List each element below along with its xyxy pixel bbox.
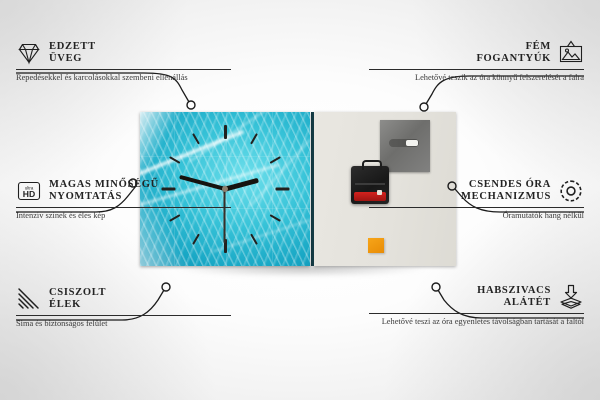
infographic-canvas: EDZETTÜVEG Repedésekkel és karcolásokkal… (0, 0, 600, 400)
metal-hanger-plate (380, 120, 430, 172)
feature-title: MAGAS MINŐSÉGŰNYOMTATÁS (49, 179, 159, 204)
foam-pad (368, 238, 384, 253)
feature-description: Óramutatók hang nélkül (369, 211, 584, 222)
feature-header: FÉMFOGANTYÚK (369, 40, 584, 66)
diamond-icon (16, 40, 42, 66)
feature-description: Intenzív színek és éles kép (16, 211, 231, 222)
divider (369, 69, 584, 70)
divider (16, 315, 231, 316)
feature-header: EDZETTÜVEG (16, 40, 231, 66)
feature-metal-handles[interactable]: FÉMFOGANTYÚK Lehetővé teszik az óra könn… (369, 40, 584, 84)
feature-silent-mechanism[interactable]: CSENDES ÓRAMECHANIZMUS Óramutatók hang n… (369, 178, 584, 222)
feature-description: Lehetővé teszi az óra egyenletes távolsá… (369, 317, 584, 328)
feature-polished-edges[interactable]: CSISZOLTÉLEK Sima és biztonságos felület (16, 286, 231, 330)
ultra-hd-icon: ultra HD (16, 178, 42, 204)
divider (16, 207, 231, 208)
feature-header: ultra HD MAGAS MINŐSÉGŰNYOMTATÁS (16, 178, 231, 204)
feature-description: Sima és biztonságos felület (16, 319, 231, 330)
feature-foam-pad[interactable]: HABSZIVACSALÁTÉT Lehetővé teszi az óra e… (369, 284, 584, 328)
feature-description: Lehetővé teszik az óra könnyű felszerelé… (369, 73, 584, 84)
feature-high-quality-print[interactable]: ultra HD MAGAS MINŐSÉGŰNYOMTATÁS Intenzí… (16, 178, 231, 222)
svg-text:HD: HD (23, 189, 35, 199)
bevel-edge-icon (16, 286, 42, 312)
feature-tempered-glass[interactable]: EDZETTÜVEG Repedésekkel és karcolásokkal… (16, 40, 231, 84)
feature-title: CSENDES ÓRAMECHANIZMUS (461, 179, 551, 204)
feature-title: CSISZOLTÉLEK (49, 287, 106, 312)
feature-header: HABSZIVACSALÁTÉT (369, 284, 584, 310)
divider (369, 207, 584, 208)
divider (16, 69, 231, 70)
feature-title: FÉMFOGANTYÚK (476, 41, 551, 66)
feature-title: HABSZIVACSALÁTÉT (477, 285, 551, 310)
feature-description: Repedésekkel és karcolásokkal szembeni e… (16, 73, 231, 84)
foam-pad-icon (558, 284, 584, 310)
feature-title: EDZETTÜVEG (49, 41, 96, 66)
divider (369, 313, 584, 314)
hanger-slot (389, 139, 419, 147)
feature-header: CSISZOLTÉLEK (16, 286, 231, 312)
picture-hanger-icon (558, 40, 584, 66)
gear-icon (558, 178, 584, 204)
feature-header: CSENDES ÓRAMECHANIZMUS (369, 178, 584, 204)
mechanism-knob (362, 160, 382, 170)
